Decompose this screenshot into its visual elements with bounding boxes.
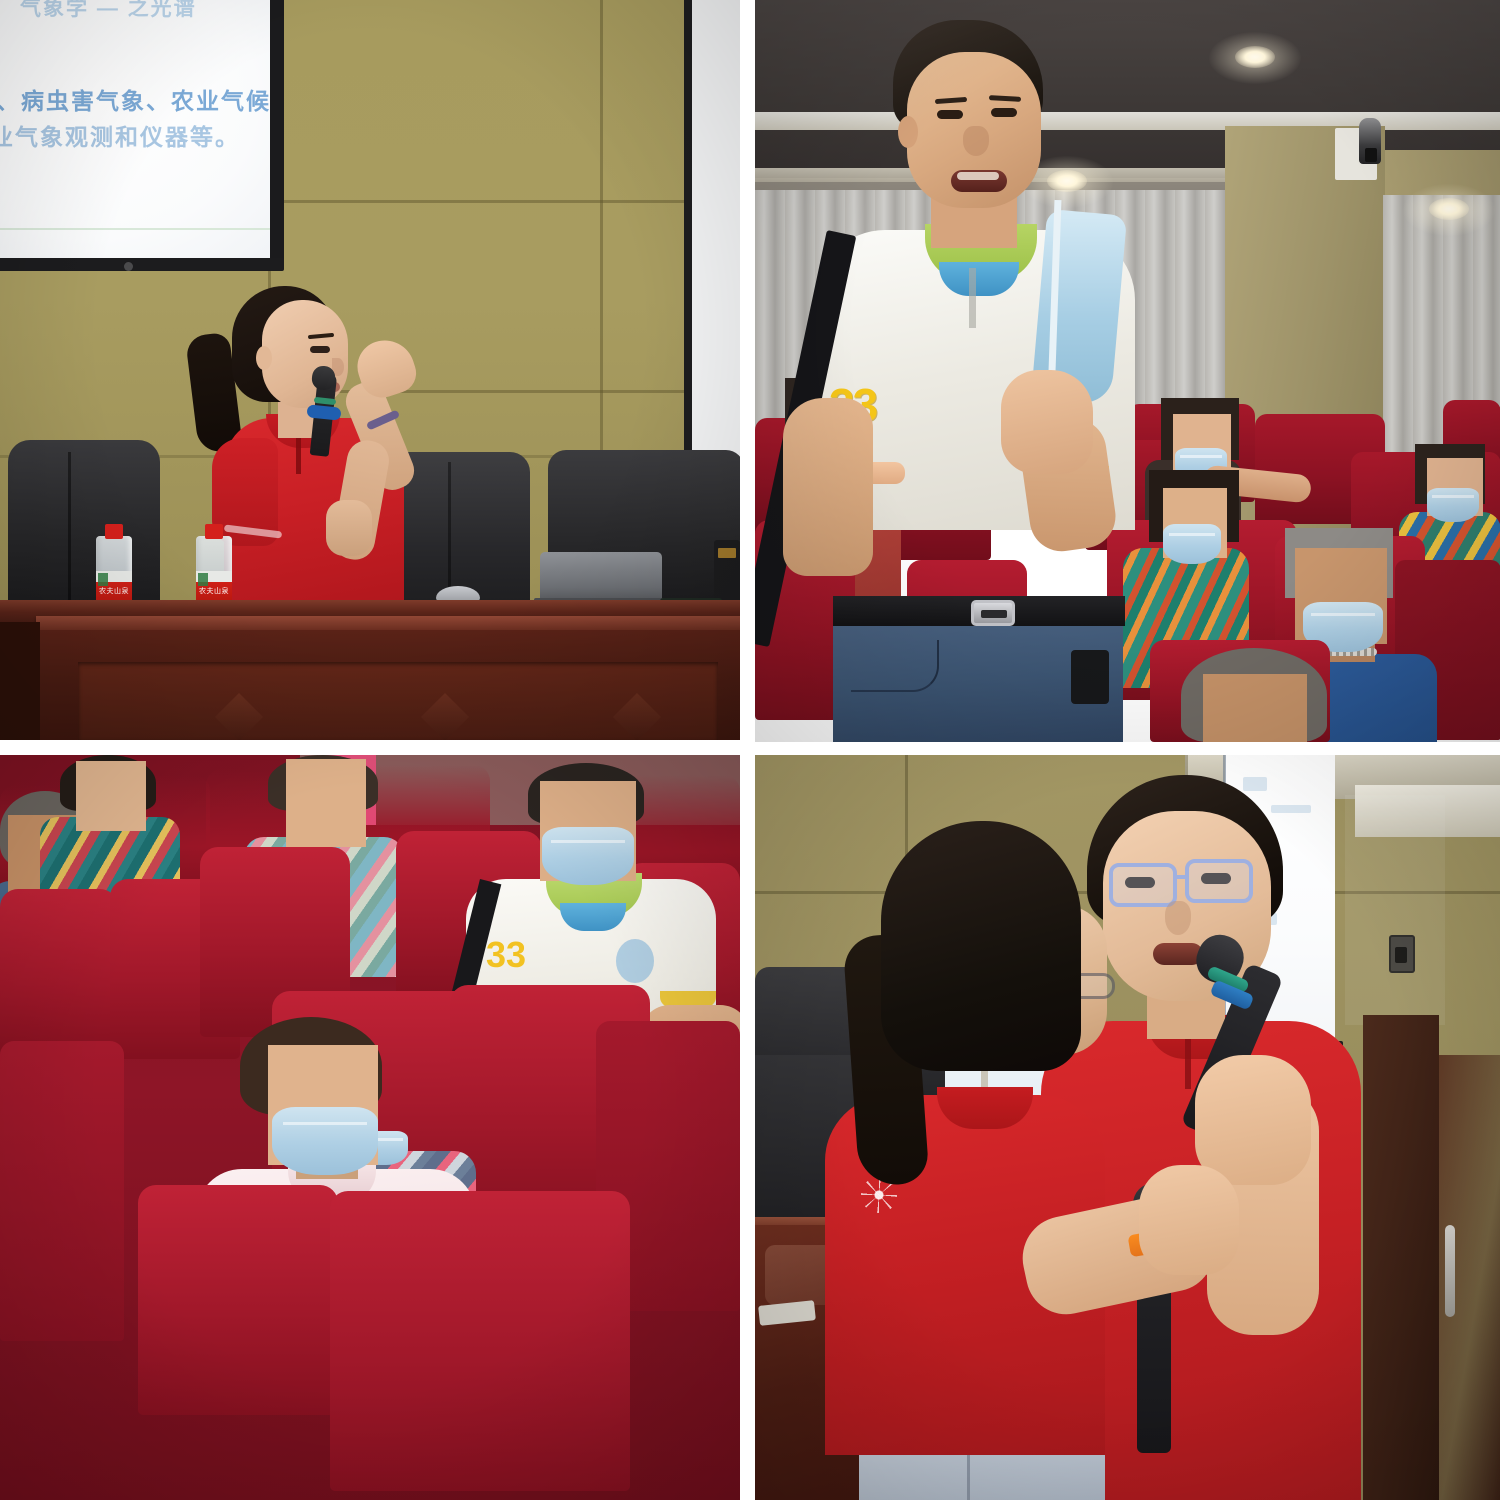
presenter-ear — [256, 346, 272, 370]
ceiling-downlight-icon — [1047, 170, 1087, 192]
student-hair — [881, 821, 1081, 1071]
eyeglasses-lens — [1109, 863, 1177, 907]
student-hand-holding-mic — [1195, 1055, 1311, 1185]
wall-recess — [1345, 795, 1445, 1025]
speaker-hand — [1001, 370, 1093, 474]
polo-chest-emblem — [616, 939, 654, 983]
slide-body-line-1: 、病虫害气象、农业气候、 — [0, 82, 296, 116]
secondary-screen-frame — [684, 0, 692, 472]
lectern-side — [0, 622, 40, 740]
audience-head — [76, 761, 146, 831]
speaker-teeth — [957, 172, 999, 180]
speaker-ear — [898, 116, 918, 148]
black-office-chair — [8, 440, 160, 610]
camera-lens — [1365, 148, 1377, 162]
bottle-label: 农夫山泉 — [96, 571, 132, 604]
collage-panel-top-left: 气象学 — 之光谱 、病虫害气象、农业气候、 业气象观测和仪器等。 — [0, 0, 740, 740]
photo-collage: 气象学 — 之光谱 、病虫害气象、农业气候、 业气象观测和仪器等。 — [0, 0, 1500, 1500]
screen-pull-knob — [124, 262, 133, 271]
secondary-projection-screen — [690, 0, 740, 464]
silver-laptop — [540, 552, 662, 602]
presenter-hand-holding-mic — [326, 500, 372, 556]
ceiling-downlight-icon — [1429, 198, 1469, 220]
surgical-mask — [1427, 488, 1479, 522]
slide-body-line-2: 业气象观测和仪器等。 — [0, 118, 240, 152]
jeans-pocket — [851, 640, 939, 692]
audience-head — [286, 759, 366, 847]
water-bottle: 农夫山泉 — [196, 524, 232, 612]
slide-heading-text: 气象学 — 之光谱 — [20, 0, 197, 22]
device-label — [718, 548, 736, 558]
collage-panel-bottom-left: 33 — [0, 755, 740, 1500]
phone-in-pocket — [1071, 650, 1109, 704]
ceiling-downlight-icon — [1235, 46, 1275, 68]
collage-panel-top-right: 33 CLUB TEAM ATHLETIC — [755, 0, 1500, 742]
theater-seat — [0, 889, 118, 1059]
wall-seam — [268, 200, 740, 203]
surgical-mask — [1163, 524, 1221, 564]
audience-head — [1203, 674, 1307, 742]
screen-frame-bottom — [0, 258, 284, 271]
speaker-arm — [783, 398, 873, 576]
slide-text-mark — [1243, 777, 1267, 791]
polo-placket — [969, 268, 976, 328]
speaker-nose — [963, 126, 989, 156]
lectern-panel-inset — [78, 662, 718, 740]
chair-seam — [68, 452, 71, 602]
slide-divider-line — [0, 228, 282, 230]
bottle-label-green-mark — [98, 573, 107, 586]
eyeglasses-lens — [1185, 859, 1253, 903]
polo-sleeve-number: 33 — [486, 935, 534, 975]
bottle-cap — [205, 524, 224, 539]
theater-seat — [138, 1185, 338, 1415]
water-bottle: 农夫山泉 — [96, 524, 132, 612]
surgical-mask — [542, 827, 634, 885]
belt-buckle-center — [981, 610, 1007, 618]
bottle-label-green-mark — [198, 573, 207, 586]
speaker-eye — [991, 108, 1017, 117]
chair-seam — [448, 462, 451, 604]
bottle-brand-text: 农夫山泉 — [96, 586, 132, 596]
slide-text-mark — [1271, 805, 1311, 813]
student-nose — [1165, 901, 1191, 935]
surgical-mask — [272, 1107, 378, 1175]
theater-seat — [330, 1191, 630, 1491]
bottle-cap — [105, 524, 124, 539]
wooden-door — [1363, 1015, 1439, 1500]
collage-panel-bottom-right — [755, 755, 1500, 1500]
eyeglasses-bridge — [1173, 875, 1189, 879]
theater-seat — [0, 1041, 124, 1341]
bottle-brand-text: 农夫山泉 — [196, 586, 232, 596]
wooden-door — [1431, 1055, 1500, 1500]
presenter-eye — [310, 346, 330, 353]
speaker-eye — [937, 110, 963, 119]
screen-frame-right — [270, 0, 284, 262]
light-switch-toggle — [1395, 947, 1407, 963]
ceiling-light-cove — [755, 112, 1500, 130]
polo-placket — [1185, 1033, 1191, 1089]
door-handle — [1445, 1225, 1455, 1317]
student-hand-holding-mic — [1139, 1165, 1239, 1275]
bottle-label: 农夫山泉 — [196, 571, 232, 604]
wall-seam — [600, 0, 603, 470]
